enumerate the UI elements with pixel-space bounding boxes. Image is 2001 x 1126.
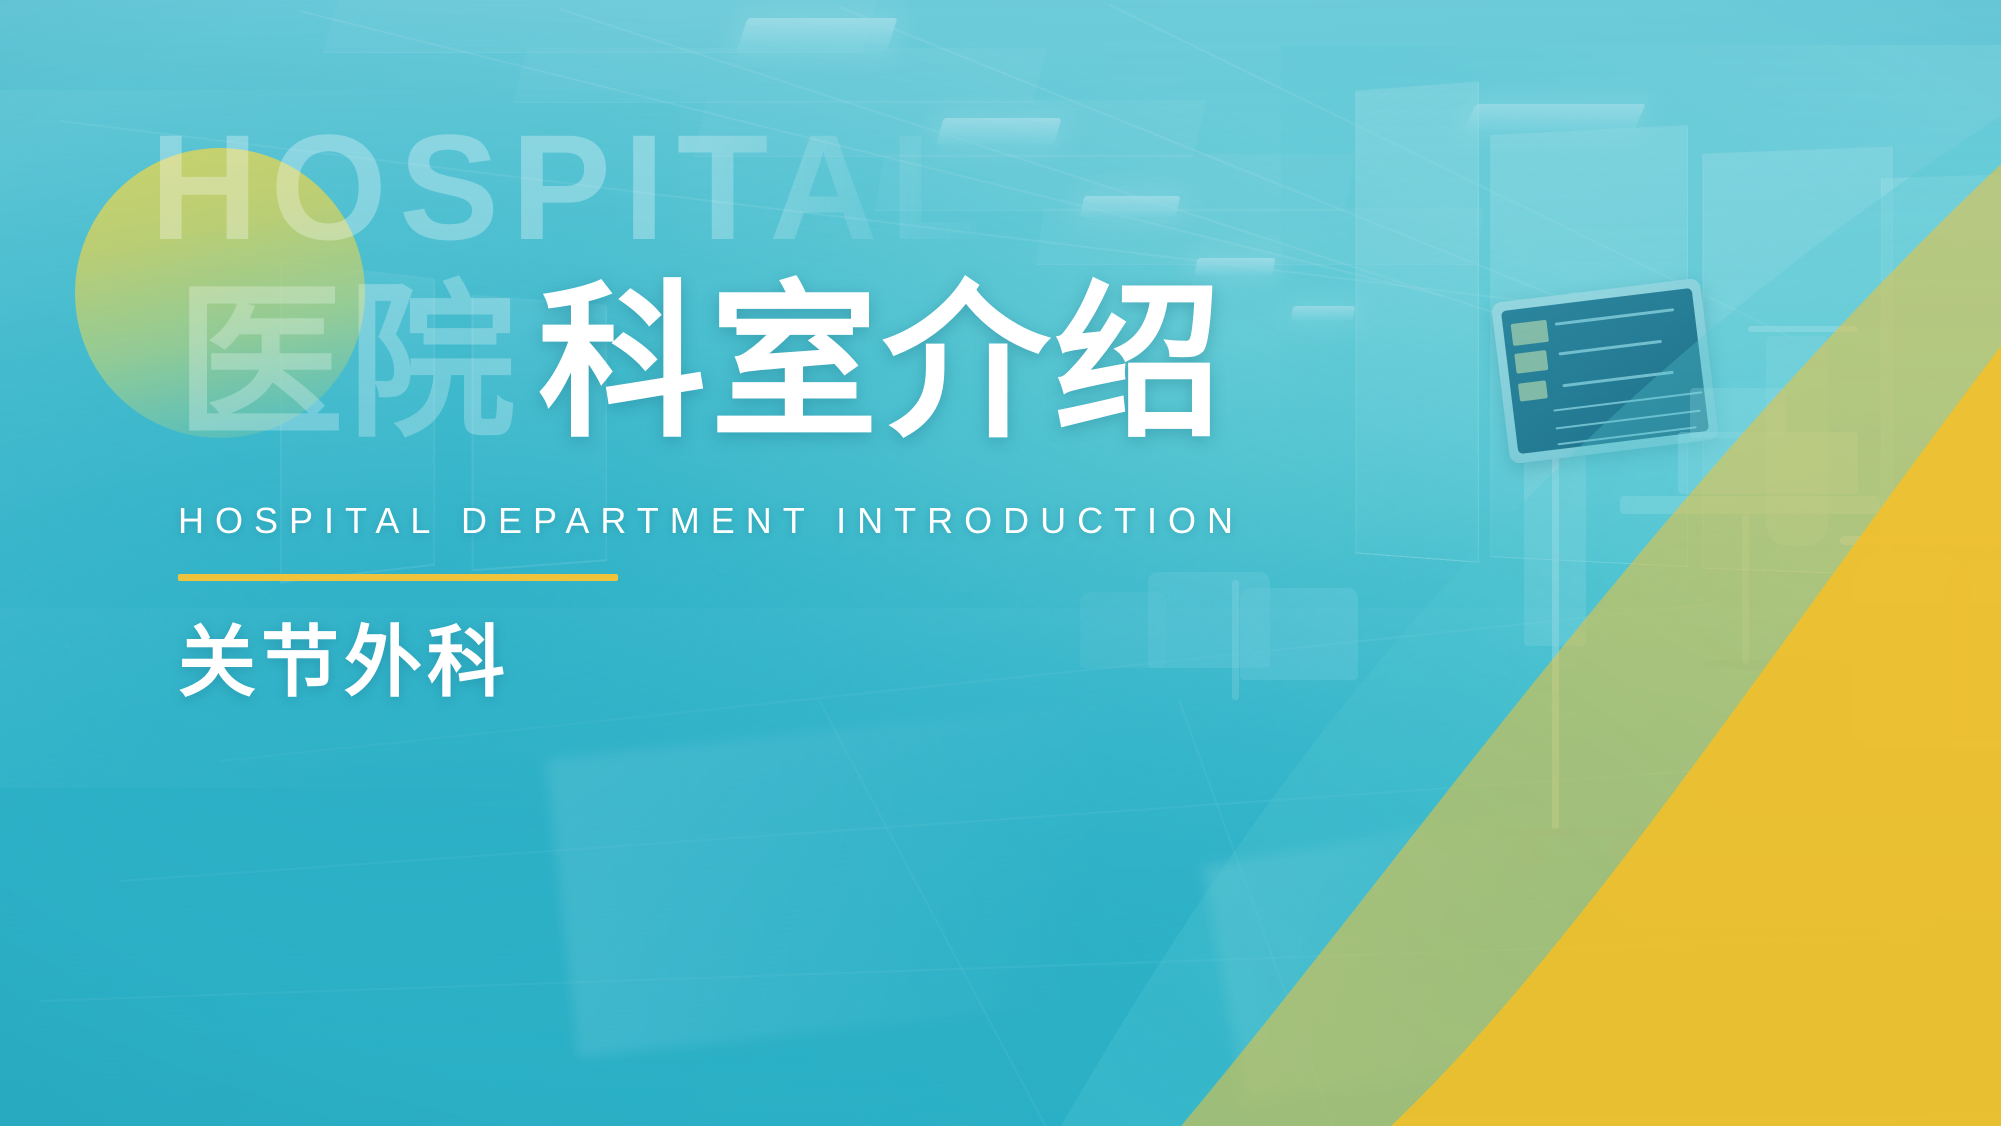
hospital-watermark-text: HOSPITAL (150, 112, 993, 262)
page-title: 医院 科室介绍 (176, 278, 1226, 446)
page-title-ghost-part: 医院 (176, 278, 520, 446)
gold-divider (178, 574, 618, 581)
title-slide: HOSPITAL 医院 科室介绍 HOSPITAL DEPARTMENT INT… (0, 0, 2001, 1126)
page-title-solid-part: 科室介绍 (538, 278, 1226, 446)
english-subtitle: HOSPITAL DEPARTMENT INTRODUCTION (178, 500, 1244, 542)
department-name: 关节外科 (178, 600, 510, 712)
